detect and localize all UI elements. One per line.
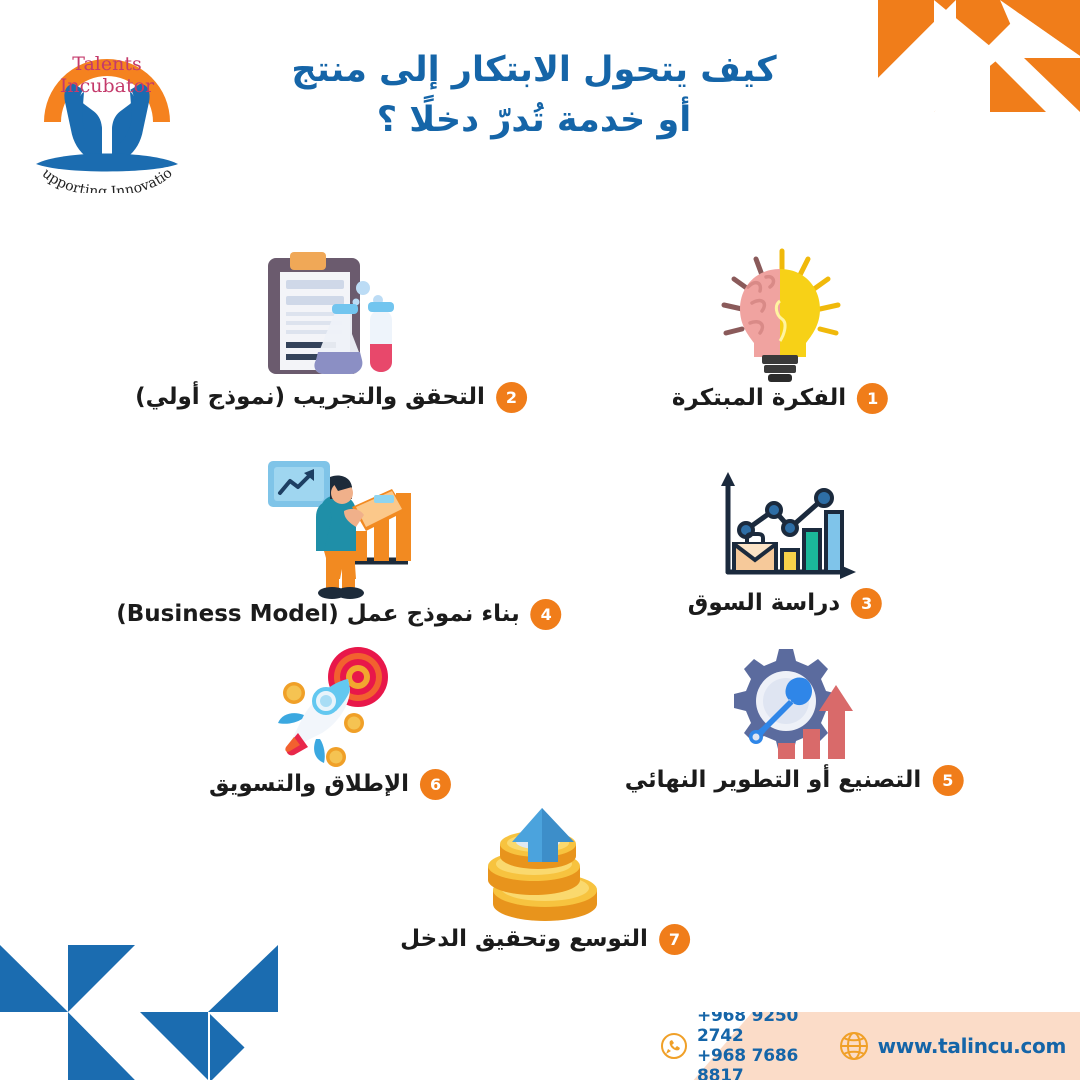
blue-pinwheel-pattern xyxy=(0,920,300,1080)
phone-number-2[interactable]: +968 7686 8817 xyxy=(697,1046,825,1080)
step-6-label: الإطلاق والتسويق xyxy=(209,772,409,797)
website-group[interactable]: www.talincu.com xyxy=(839,1031,1066,1061)
phone-numbers[interactable]: +968 9250 2742 +968 7686 8817 xyxy=(697,1012,825,1080)
step-1-label: الفكرة المبتكرة xyxy=(672,386,846,411)
globe-icon xyxy=(839,1031,869,1061)
step-5-label-row: 5 التصنيع أو التطوير النهائي xyxy=(625,765,964,796)
step-4-label-row: 4 بناء نموذج عمل (Business Model) xyxy=(116,599,561,630)
coins-arrow-up-icon xyxy=(470,800,620,924)
step-5-label: التصنيع أو التطوير النهائي xyxy=(625,768,922,793)
step-item-3: 3 دراسة السوق xyxy=(706,466,864,588)
page-title-line1: كيف يتحول الابتكار إلى منتج xyxy=(214,46,854,96)
whatsapp-icon xyxy=(660,1032,688,1060)
talents-incubator-logo: Talents Incubator Supporting Innovation xyxy=(22,18,192,193)
gear-wrench-growth-icon xyxy=(718,645,870,768)
step-1-label-row: 1 الفكرة المبتكرة xyxy=(672,383,888,414)
page-title-line2: أو خدمة تُدرّ دخلًا ؟ xyxy=(214,96,854,146)
step-1-badge: 1 xyxy=(857,383,888,414)
footer-contact-bar: www.talincu.com +968 9250 2742 +968 7686… xyxy=(660,1012,1080,1080)
clipboard-flask-icon xyxy=(256,248,406,382)
logo-line2-text: Incubator xyxy=(60,75,155,97)
step-4-label: بناء نموذج عمل (Business Model) xyxy=(116,602,519,627)
step-2-label: التحقق والتجريب (نموذج أولي) xyxy=(135,385,485,410)
bottom-left-decoration xyxy=(0,920,300,1080)
rocket-target-coins-icon xyxy=(254,645,406,769)
step-item-1: 1 الفكرة المبتكرة xyxy=(700,243,860,385)
step-7-label-row: 7 التوسع وتحقيق الدخل xyxy=(400,924,690,955)
step-5-badge: 5 xyxy=(932,765,963,796)
step-6-label-row: 6 الإطلاق والتسويق xyxy=(209,769,451,800)
step-3-label: دراسة السوق xyxy=(688,591,840,616)
step-item-5: 5 التصنيع أو التطوير النهائي xyxy=(718,645,870,768)
website-url[interactable]: www.talincu.com xyxy=(878,1034,1066,1058)
step-3-label-row: 3 دراسة السوق xyxy=(688,588,882,619)
logo-graphic: Talents Incubator Supporting Innovation xyxy=(22,18,192,193)
top-right-decoration xyxy=(878,0,1080,112)
page-title: كيف يتحول الابتكار إلى منتج أو خدمة تُدر… xyxy=(214,46,854,145)
step-2-badge: 2 xyxy=(496,382,527,413)
step-item-7: 7 التوسع وتحقيق الدخل xyxy=(470,800,620,924)
phone-group[interactable]: +968 9250 2742 +968 7686 8817 xyxy=(660,1012,825,1080)
step-item-4: 4 بناء نموذج عمل (Business Model) xyxy=(256,455,422,599)
step-item-2: 2 التحقق والتجريب (نموذج أولي) xyxy=(256,248,406,382)
step-7-badge: 7 xyxy=(659,924,690,955)
step-6-badge: 6 xyxy=(420,769,451,800)
step-item-6: 6 الإطلاق والتسويق xyxy=(254,645,406,769)
logo-line1-text: Talents xyxy=(72,53,141,75)
phone-number-1[interactable]: +968 9250 2742 xyxy=(697,1012,825,1046)
orange-pinwheel-pattern xyxy=(878,0,1080,112)
step-4-badge: 4 xyxy=(531,599,562,630)
step-3-badge: 3 xyxy=(851,588,882,619)
presenter-laptop-icon xyxy=(256,455,422,599)
step-7-label: التوسع وتحقيق الدخل xyxy=(400,927,648,952)
brain-lightbulb-icon xyxy=(700,243,860,385)
market-chart-icon xyxy=(706,466,864,588)
step-2-label-row: 2 التحقق والتجريب (نموذج أولي) xyxy=(135,382,527,413)
